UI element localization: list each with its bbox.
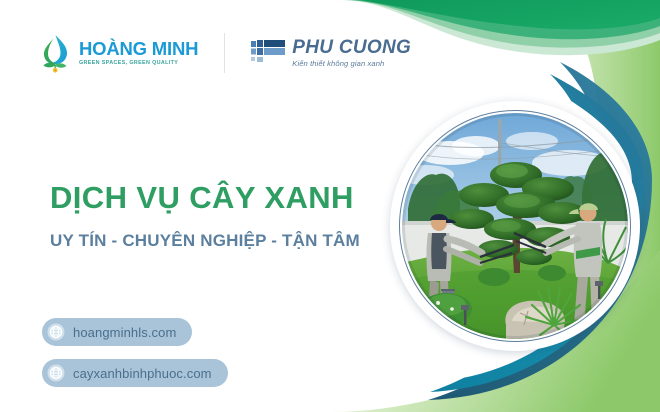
website-pill-hoangminhls[interactable]: hoangminhls.com: [42, 318, 192, 346]
globe-icon: [47, 364, 65, 382]
hero-photo: [390, 101, 640, 351]
logo-row: HOÀNG MINH GREEN SPACES, GREEN QUALITY P…: [38, 33, 411, 73]
website-pill-cayxanhbinhphuoc[interactable]: cayxanhbinhphuoc.com: [42, 359, 228, 387]
website-label: hoangminhls.com: [73, 325, 176, 340]
logo-hoang-minh: HOÀNG MINH GREEN SPACES, GREEN QUALITY: [38, 33, 198, 73]
website-list: hoangminhls.com cayxanhbinhphuoc.com: [42, 318, 228, 387]
subheadline: UY TÍN - CHUYÊN NGHIỆP - TẬN TÂM: [50, 232, 360, 249]
logo-phu-cuong: PHU CUONG Kiến thiết không gian xanh: [251, 38, 411, 68]
logo-tagline-phu-cuong: Kiến thiết không gian xanh: [292, 60, 411, 68]
leaf-flame-icon: [38, 33, 72, 73]
promotional-banner: HOÀNG MINH GREEN SPACES, GREEN QUALITY P…: [0, 0, 660, 412]
blue-blocks-icon: [251, 40, 285, 66]
logo-tagline-hoang-minh: GREEN SPACES, GREEN QUALITY: [79, 61, 198, 66]
logo-name-phu-cuong: PHU CUONG: [292, 38, 411, 57]
logo-name-hoang-minh: HOÀNG MINH: [79, 40, 198, 59]
headline: DỊCH VỤ CÂY XANH: [50, 182, 354, 213]
website-label: cayxanhbinhphuoc.com: [73, 366, 212, 381]
photo-disc: [402, 113, 628, 339]
logo-divider: [224, 33, 225, 73]
globe-icon: [47, 323, 65, 341]
